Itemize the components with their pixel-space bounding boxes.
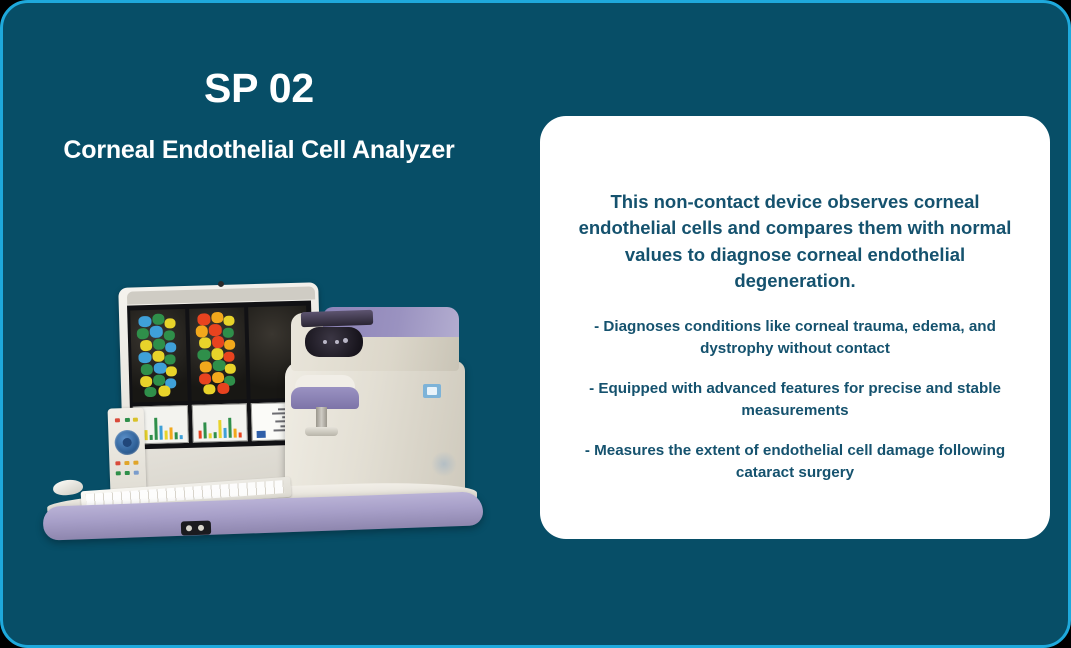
control-button-yellow[interactable]: [133, 418, 138, 422]
optical-measurement-head: [305, 327, 363, 357]
control-button-green[interactable]: [125, 418, 130, 422]
control-button-orange[interactable]: [124, 461, 129, 465]
list-item: - Measures the extent of endothelial cel…: [570, 440, 1020, 484]
platform-control-pad[interactable]: [181, 520, 211, 535]
list-item: - Equipped with advanced features for pr…: [570, 378, 1020, 422]
feature-list: - Diagnoses conditions like corneal trau…: [570, 316, 1020, 484]
page-title: SP 02: [3, 67, 515, 110]
instrument-emblem-icon: [431, 451, 457, 477]
card-intro-text: This non-contact device observes corneal…: [570, 189, 1020, 294]
mouse[interactable]: [52, 478, 83, 496]
control-button-red-2[interactable]: [115, 461, 120, 465]
control-button-green-3[interactable]: [125, 471, 130, 475]
control-button-green-2[interactable]: [116, 471, 121, 475]
list-item: - Diagnoses conditions like corneal trau…: [570, 316, 1020, 360]
cell-map-red-yellow: [189, 307, 247, 400]
brand-logo-icon: [423, 384, 441, 398]
instrument-head-plate: [301, 310, 373, 328]
info-card: This non-contact device observes corneal…: [540, 116, 1050, 539]
product-info-panel: SP 02 Corneal Endothelial Cell Analyzer: [0, 0, 1071, 648]
control-dial[interactable]: [114, 430, 140, 456]
chin-rest-base: [305, 427, 338, 436]
page-subtitle: Corneal Endothelial Cell Analyzer: [3, 136, 515, 165]
control-button-orange-2[interactable]: [133, 461, 138, 465]
chin-rest-stem: [316, 407, 327, 429]
control-button-blue[interactable]: [134, 471, 139, 475]
control-panel-with-dial[interactable]: [108, 407, 147, 494]
chin-rest: [291, 387, 359, 409]
histogram-right: [192, 403, 248, 443]
product-photo: [33, 275, 503, 550]
cell-map-blue-green: [130, 309, 188, 402]
control-button-red[interactable]: [115, 418, 120, 422]
